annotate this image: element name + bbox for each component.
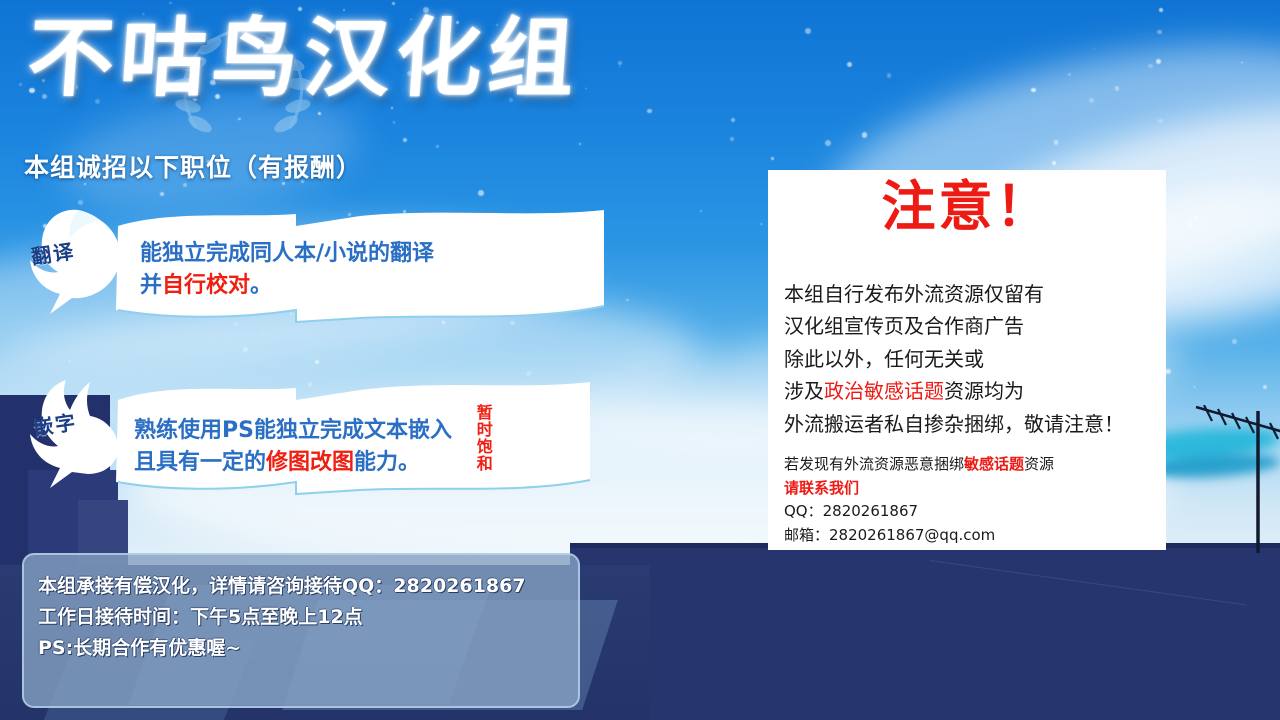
notice-title: 注意！ [768,180,1166,234]
bokeh-dot [1148,64,1152,68]
rooftop-surface [570,548,1280,720]
bokeh-dot [1232,339,1237,344]
highlight-text: 请联系我们 [784,479,859,497]
service-info-line1: 本组承接有偿汉化，详情请咨询接待QQ：2820261867 [38,571,526,602]
bokeh-dot [69,360,70,361]
page-subtitle: 本组诚招以下职位（有报酬） [24,148,362,184]
bokeh-dot [626,299,629,302]
bokeh-dot [243,347,248,352]
notice-panel: 注意！ 本组自行发布外流资源仅留有汉化组宣传页及合作商广告除此以外，任何无关或涉… [768,170,1166,550]
bokeh-dot [887,73,892,78]
notice-body-line: 汉化组宣传页及合作商广告 [784,310,1124,342]
bokeh-dot [315,360,319,364]
promo-page: 不咕鸟汉化组 本组诚招以下职位（有报酬） 能独立完成同人本/小说的翻译 并自行校… [0,0,1280,720]
notice-sub-line: 请联系我们 [784,477,1054,501]
notice-body-line: 涉及政治敏感话题资源均为 [784,375,1124,407]
notice-contact-block: 若发现有外流资源恶意捆绑敏感话题资源请联系我们QQ：2820261867邮箱：2… [784,453,1054,548]
text-run: 资源均为 [944,379,1024,403]
text-run: 资源 [1024,455,1054,473]
page-title: 不咕鸟汉化组 [25,16,583,102]
bokeh-dot [263,333,265,335]
notice-body-line: 外流搬运者私自掺杂捆绑，敬请注意！ [784,408,1124,440]
notice-body-line: 除此以外，任何无关或 [784,343,1124,375]
text-run: 邮箱：2820261867@qq.com [784,526,995,544]
bokeh-dot [1159,8,1163,12]
text-run: QQ：2820261867 [784,502,918,520]
banner-typesetter-line2: 且具有一定的修图改图能力。 [134,447,420,478]
service-info-text: 本组承接有偿汉化，详情请咨询接待QQ：2820261867 工作日接待时间：下午… [38,571,526,663]
bokeh-dot [392,2,395,5]
text-run: 涉及 [784,379,824,403]
notice-body: 本组自行发布外流资源仅留有汉化组宣传页及合作商广告除此以外，任何无关或涉及政治敏… [784,278,1124,440]
dove-label-translator: 翻译 [29,235,77,270]
status-note-typesetter: 暂时饱和 [474,404,491,472]
text-run: 除此以外，任何无关或 [784,347,984,371]
service-info-line3: PS:长期合作有优惠喔~ [38,633,526,664]
dove-label-typesetter: 嵌字 [31,406,79,441]
text-run: 本组自行发布外流资源仅留有 [784,282,1044,306]
highlight-text: 修图改图 [266,450,354,475]
tv-antenna-icon [1190,405,1280,555]
notice-sub-line: 若发现有外流资源恶意捆绑敏感话题资源 [784,453,1054,477]
service-info-box: 本组承接有偿汉化，详情请咨询接待QQ：2820261867 工作日接待时间：下午… [22,553,580,708]
bokeh-dot [1158,119,1162,123]
notice-body-line: 本组自行发布外流资源仅留有 [784,278,1124,310]
bokeh-dot [805,28,811,34]
banner-translator-line1: 能独立完成同人本/小说的翻译 [140,238,434,269]
bokeh-dot [1157,30,1161,34]
bokeh-dot [1156,59,1161,64]
bokeh-dot [19,83,22,86]
text-run: 若发现有外流资源恶意捆绑 [784,455,964,473]
bokeh-dot [847,62,852,67]
bokeh-dot [697,364,699,366]
service-info-line2: 工作日接待时间：下午5点至晚上12点 [38,602,526,633]
highlight-text: 政治敏感话题 [824,379,944,403]
text-run: 外流搬运者私自掺杂捆绑，敬请注意！ [784,412,1124,436]
highlight-text: 自行校对 [162,273,250,298]
bokeh-dot [1089,98,1094,103]
bokeh-dot [1194,216,1198,220]
banner-typesetter-line1: 熟练使用PS能独立完成文本嵌入 [134,415,452,446]
bokeh-dot [169,2,171,4]
banner-translator-line2: 并自行校对。 [140,270,272,301]
bokeh-dot [1263,385,1267,389]
bokeh-dot [478,190,484,196]
notice-sub-line: QQ：2820261867 [784,500,1054,524]
highlight-text: 敏感话题 [964,455,1024,473]
bokeh-dot [1194,386,1195,387]
text-run: 汉化组宣传页及合作商广告 [784,314,1024,338]
notice-sub-line: 邮箱：2820261867@qq.com [784,524,1054,548]
bokeh-dot [1115,86,1120,91]
bokeh-dot [1031,88,1035,92]
bokeh-dot [436,145,439,148]
